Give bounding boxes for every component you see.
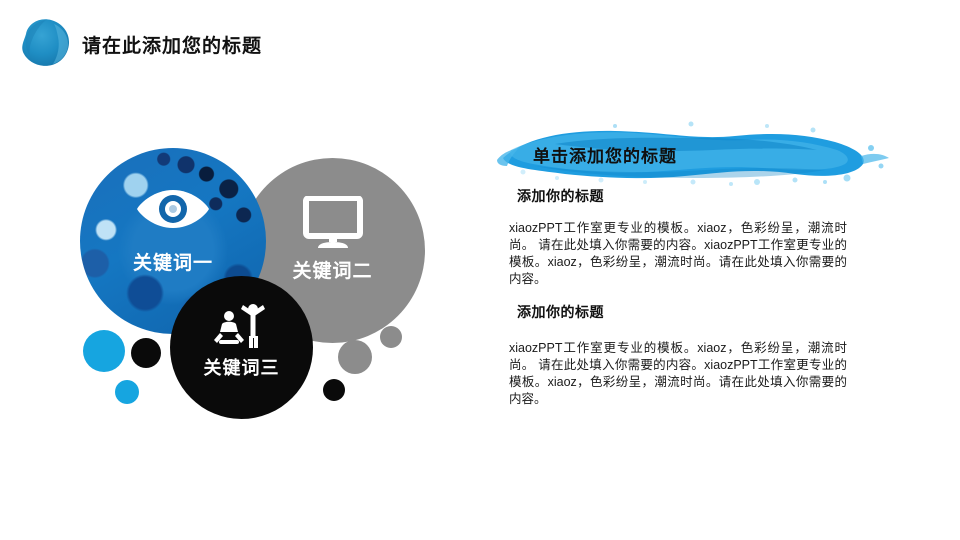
banner-title: 单击添加您的标题 — [533, 142, 677, 167]
section-paragraph-one: xiaozPPT工作室更专业的模板。xiaoz，色彩纷呈，潮流时尚。 请在此处填… — [509, 220, 847, 288]
decor-bubble — [338, 340, 372, 374]
decor-bubble — [323, 379, 345, 401]
circle-keyword-two-label: 关键词二 — [240, 256, 425, 283]
content-panel: 单击添加您的标题 添加你的标题 xiaozPPT工作室更专业的模板。xiaoz，… — [495, 120, 895, 420]
decor-bubble — [380, 326, 402, 348]
section-paragraph-two: xiaozPPT工作室更专业的模板。xiaoz，色彩纷呈，潮流时尚。 请在此处填… — [509, 340, 847, 408]
eye-icon — [80, 188, 266, 230]
decor-bubble — [115, 380, 139, 404]
section-heading-two: 添加你的标题 — [517, 302, 604, 322]
circle-keyword-one-label: 关键词一 — [80, 248, 266, 275]
page-title: 请在此添加您的标题 — [82, 31, 262, 58]
keyword-circle-diagram: 关键词二 关键词一 — [80, 148, 425, 423]
section-heading-one: 添加你的标题 — [517, 186, 604, 206]
decor-bubble — [83, 330, 125, 372]
monitor-icon — [240, 196, 425, 250]
people-celebrate-icon — [170, 300, 313, 348]
circle-keyword-three-label: 关键词三 — [170, 354, 313, 380]
slide-header: 请在此添加您的标题 — [0, 0, 960, 86]
decor-bubble — [131, 338, 161, 368]
watercolor-blob-icon — [16, 16, 72, 68]
circle-keyword-three[interactable]: 关键词三 — [170, 276, 313, 419]
